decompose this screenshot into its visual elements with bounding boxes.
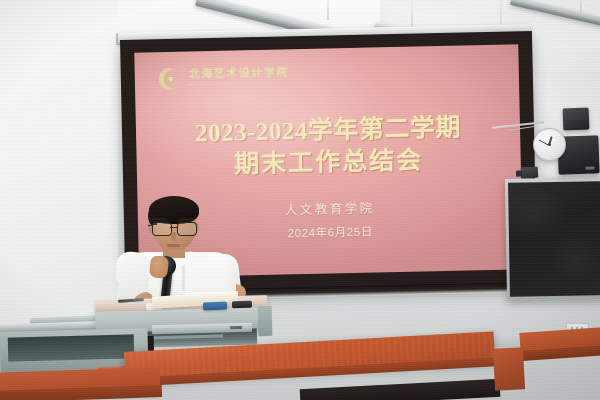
collar-right [187,251,208,272]
nose [171,232,176,241]
blackboard [505,177,600,301]
student-desk-right-edge [493,347,525,391]
shirt-placket [182,265,185,291]
hand-holding-microphone [149,255,169,279]
glasses-lens-left [152,222,172,236]
glasses-temple [148,225,153,226]
slide-title-line-2: 期末工作总结会 [136,144,521,182]
podium-lower-opening [8,334,135,361]
wall-clock [533,128,566,161]
slide-logo: 北海艺术设计学院 BEIHAI COLLEGE OF ART AND DESIG… [157,63,290,92]
camera-mount [521,167,539,179]
podium-side-panel [258,306,273,336]
wall-speaker-upper [563,108,590,131]
glasses-bridge [170,227,178,228]
institution-name-en: BEIHAI COLLEGE OF ART AND DESIGN [189,81,289,87]
blackboard-chalk-smudge [508,181,600,297]
speaker-label [585,166,594,169]
institution-logo-icon [157,66,184,93]
lecture-room-photo: 北海艺术设计学院 BEIHAI COLLEGE OF ART AND DESIG… [0,0,600,400]
dark-object-on-podium [232,301,252,309]
institution-name-cn: 北海艺术设计学院 [189,68,289,81]
light-suspension-rod [327,0,329,20]
glasses-lens-right [177,222,197,236]
mouth [167,244,180,247]
blue-object-on-podium [203,302,227,311]
blackboard-surface [508,181,600,297]
institution-logo-text: 北海艺术设计学院 BEIHAI COLLEGE OF ART AND DESIG… [189,68,289,87]
clock-center-pin [548,143,551,146]
slide-title: 2023-2024学年第二学期 期末工作总结会 [136,112,521,181]
